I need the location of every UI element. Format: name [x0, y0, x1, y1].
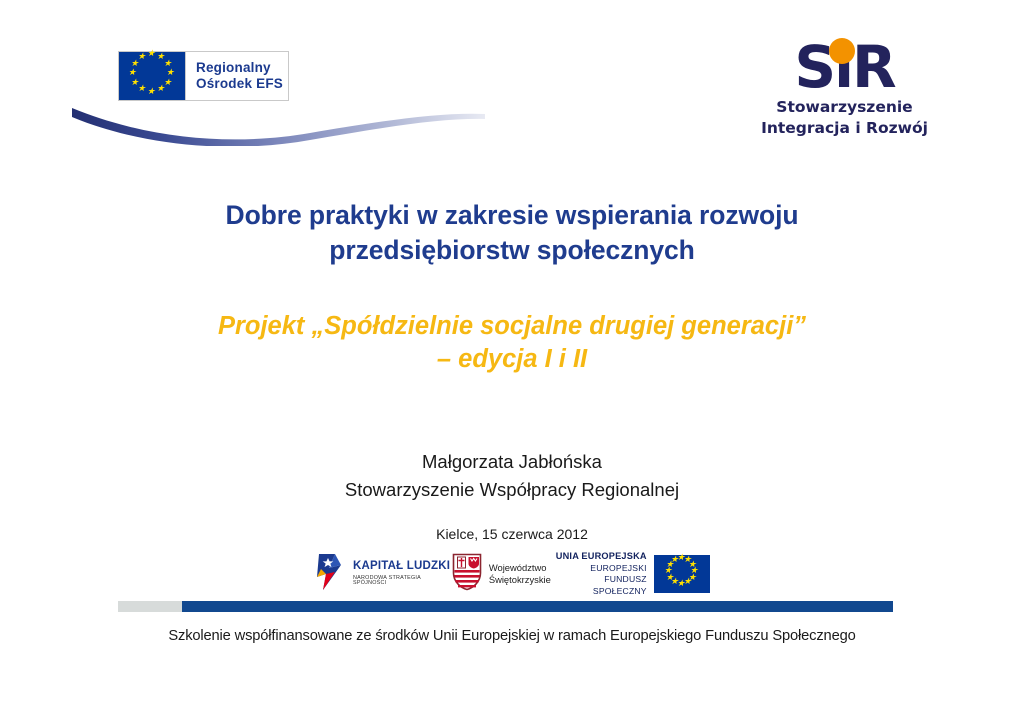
unia-europejska-wordmark: UNIA EUROPEJSKA EUROPEJSKI FUNDUSZ SPOŁE…	[551, 551, 647, 597]
eu-stars-circle-icon	[133, 57, 171, 95]
page-title: Dobre praktyki w zakresie wspierania roz…	[120, 198, 904, 268]
orange-dot-icon	[829, 38, 855, 64]
unia-europejska-logo: UNIA EUROPEJSKA EUROPEJSKI FUNDUSZ SPOŁE…	[551, 551, 710, 597]
kapital-ludzki-stars-icon	[315, 552, 345, 597]
author-place-date: Kielce, 15 czerwca 2012	[120, 524, 904, 544]
wojewodztwo-wordmark: Województwo Świętokrzyskie	[489, 562, 551, 586]
swietokrzyskie-coat-of-arms-icon	[452, 553, 482, 596]
wojewodztwo-line2: Świętokrzyskie	[489, 574, 551, 586]
author-block: Małgorzata Jabłońska Stowarzyszenie Wspó…	[120, 448, 904, 544]
title-main-line2: przedsiębiorstw społecznych	[120, 233, 904, 268]
footer-bar-gray-segment	[118, 601, 184, 612]
page-subtitle: Projekt „Spółdzielnie socjalne drugiej g…	[120, 310, 904, 376]
eu-flag-icon	[654, 555, 710, 593]
sir-wordmark: SiR	[757, 38, 932, 96]
kapital-ludzki-title: KAPITAŁ LUDZKI	[353, 561, 452, 573]
decorative-wave	[60, 100, 490, 146]
unia-europejska-line3: FUNDUSZ SPOŁECZNY	[551, 574, 647, 597]
footer-bar-blue-segment	[182, 601, 893, 612]
kapital-ludzki-logo: KAPITAŁ LUDZKI NARODOWA STRATEGIA SPÓJNO…	[315, 552, 452, 597]
sir-logo: SiR Stowarzyszenie Integracja i Rozwój	[757, 38, 932, 138]
title-sub-line2: – edycja I i II	[120, 343, 904, 376]
unia-europejska-line2: EUROPEJSKI	[551, 563, 647, 575]
footer-caption: Szkolenie współfinansowane ze środków Un…	[0, 628, 1024, 644]
kapital-ludzki-wordmark: KAPITAŁ LUDZKI NARODOWA STRATEGIA SPÓJNO…	[353, 561, 452, 586]
author-name: Małgorzata Jabłońska	[120, 448, 904, 476]
footer-logo-strip: KAPITAŁ LUDZKI NARODOWA STRATEGIA SPÓJNO…	[315, 552, 710, 596]
wojewodztwo-swietokrzyskie-logo: Województwo Świętokrzyskie	[452, 553, 551, 596]
eu-stars-circle-icon	[669, 561, 695, 587]
ros-efs-wordmark: Regionalny Ośrodek EFS	[186, 51, 289, 101]
author-organization: Stowarzyszenie Współpracy Regionalnej	[120, 476, 904, 504]
wojewodztwo-line1: Województwo	[489, 562, 551, 574]
ros-efs-line1: Regionalny	[196, 60, 288, 76]
unia-europejska-line1: UNIA EUROPEJSKA	[551, 551, 647, 563]
title-sub-line1: Projekt „Spółdzielnie socjalne drugiej g…	[120, 310, 904, 343]
title-block: Dobre praktyki w zakresie wspierania roz…	[120, 198, 904, 376]
eu-flag-icon	[118, 51, 186, 101]
regionalny-osrodek-efs-logo: Regionalny Ośrodek EFS	[118, 51, 289, 101]
kapital-ludzki-subtitle: NARODOWA STRATEGIA SPÓJNOŚCI	[353, 576, 452, 587]
ros-efs-line2: Ośrodek EFS	[196, 76, 288, 92]
title-main-line1: Dobre praktyki w zakresie wspierania roz…	[120, 198, 904, 233]
presentation-slide: Regionalny Ośrodek EFS SiR Stowarzysze	[0, 0, 1024, 724]
sir-subtitle-line2: Integracja i Rozwój	[757, 119, 932, 138]
